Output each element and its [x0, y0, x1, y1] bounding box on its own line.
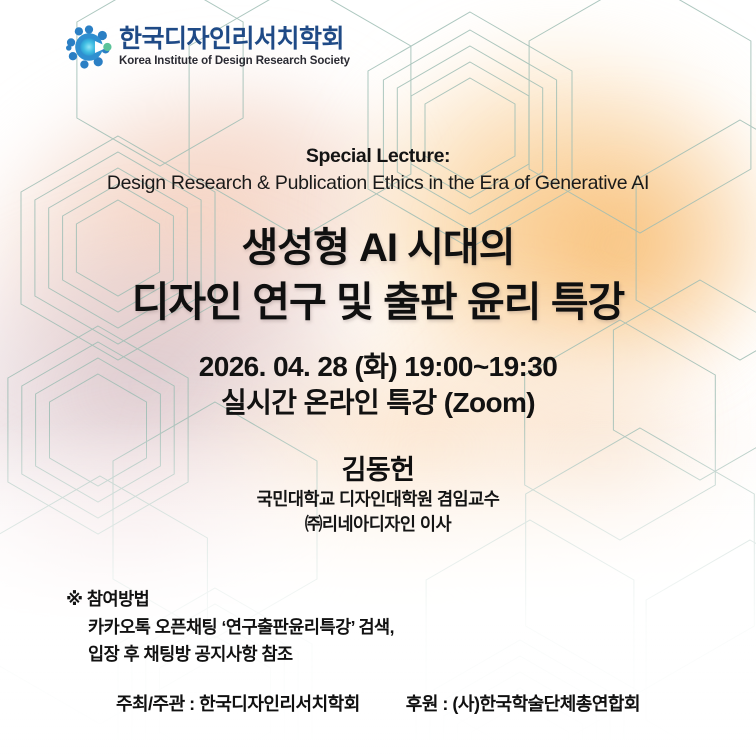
title-line-2: 디자인 연구 및 출판 윤리 특강	[0, 275, 756, 329]
society-logo[interactable]: 한국디자인리서치학회 Korea Institute of Design Res…	[66, 24, 350, 70]
society-name-en: Korea Institute of Design Research Socie…	[119, 56, 350, 68]
poster-canvas: 한국디자인리서치학회 Korea Institute of Design Res…	[0, 0, 756, 756]
schedule-format: 실시간 온라인 특강 (Zoom)	[0, 385, 756, 421]
title-line-1: 생성형 AI 시대의	[0, 222, 756, 275]
participation-line-1: 카카오톡 오픈채팅 ‘연구출판윤리특강’ 검색,	[66, 614, 394, 642]
lecture-subject-en: Design Research & Publication Ethics in …	[0, 172, 756, 195]
footer-host: 주최/주관 : 한국디자인리서치학회	[116, 690, 360, 716]
kidrs-molecule-logo-icon	[66, 24, 112, 70]
footer-credits: 주최/주관 : 한국디자인리서치학회 후원 : (사)한국학술단체총연합회	[0, 690, 756, 716]
eyebrow-label: Special Lecture:	[0, 145, 756, 168]
participation-heading: ※ 참여방법	[66, 586, 394, 614]
speaker-name: 김동헌	[0, 448, 756, 487]
participation-line-2: 입장 후 채팅방 공지사항 참조	[66, 641, 394, 669]
speaker-affiliation-line-2: ㈜리네아디자인 이사	[0, 512, 756, 537]
schedule-datetime: 2026. 04. 28 (화) 19:00~19:30	[0, 349, 756, 385]
speaker-affiliation: 국민대학교 디자인대학원 겸임교수 ㈜리네아디자인 이사	[0, 487, 756, 537]
speaker-affiliation-line-1: 국민대학교 디자인대학원 겸임교수	[0, 487, 756, 512]
schedule-block: 2026. 04. 28 (화) 19:00~19:30 실시간 온라인 특강 …	[0, 349, 756, 422]
society-name-kr: 한국디자인리서치학회	[119, 27, 350, 52]
footer-sponsor: 후원 : (사)한국학술단체총연합회	[406, 690, 640, 716]
participation-block: ※ 참여방법 카카오톡 오픈채팅 ‘연구출판윤리특강’ 검색, 입장 후 채팅방…	[66, 586, 394, 669]
page-title: 생성형 AI 시대의 디자인 연구 및 출판 윤리 특강	[0, 222, 756, 329]
